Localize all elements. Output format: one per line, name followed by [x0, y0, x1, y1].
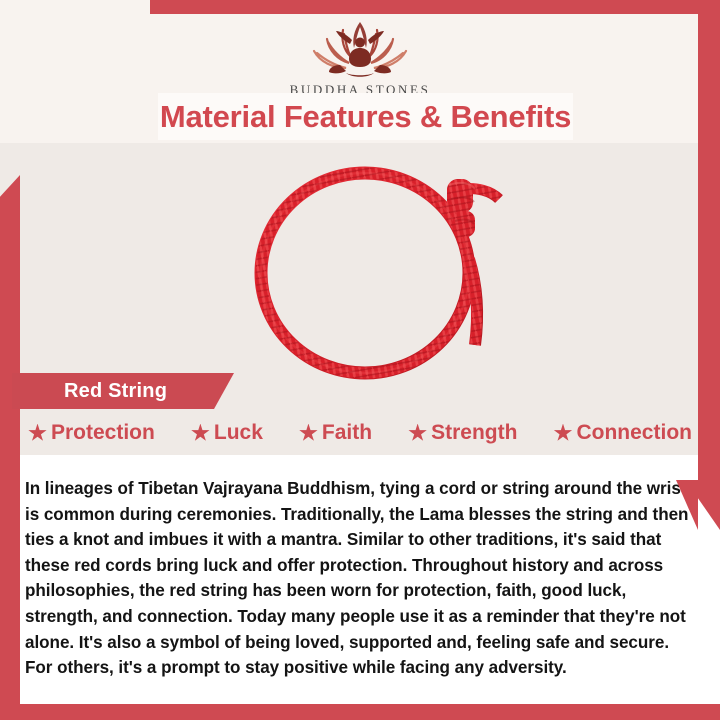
benefit-item-strength: Strength: [408, 421, 517, 445]
benefit-label: Protection: [51, 421, 155, 445]
page-title: Material Features & Benefits: [160, 99, 571, 135]
infographic-poster: BUDDHA STONES Material Features & Benefi…: [0, 0, 720, 720]
frame-accent-top: [150, 0, 720, 14]
star-icon: [28, 424, 47, 443]
benefit-label: Luck: [214, 421, 263, 445]
star-icon: [408, 424, 427, 443]
lotus-meditation-icon: [296, 18, 424, 80]
benefit-item-protection: Protection: [28, 421, 155, 445]
product-ribbon: Red String: [12, 373, 234, 409]
benefit-label: Faith: [322, 421, 372, 445]
brand-logo: BUDDHA STONES: [0, 18, 720, 98]
benefit-label: Strength: [431, 421, 517, 445]
red-braided-cord-bracelet-image: [225, 155, 515, 380]
product-image: [225, 155, 515, 380]
benefit-item-luck: Luck: [191, 421, 263, 445]
benefit-item-faith: Faith: [299, 421, 372, 445]
star-icon: [191, 424, 210, 443]
product-ribbon-label: Red String: [12, 380, 167, 403]
title-banner: Material Features & Benefits: [158, 93, 573, 140]
description-text: In lineages of Tibetan Vajrayana Buddhis…: [25, 476, 690, 681]
frame-accent-left: [0, 175, 20, 720]
benefit-item-connection: Connection: [553, 421, 692, 445]
star-icon: [299, 424, 318, 443]
star-icon: [553, 424, 572, 443]
frame-accent-bottom: [0, 704, 720, 720]
benefit-label: Connection: [576, 421, 692, 445]
benefits-list: Protection Luck Faith Strength Connectio…: [28, 421, 692, 445]
